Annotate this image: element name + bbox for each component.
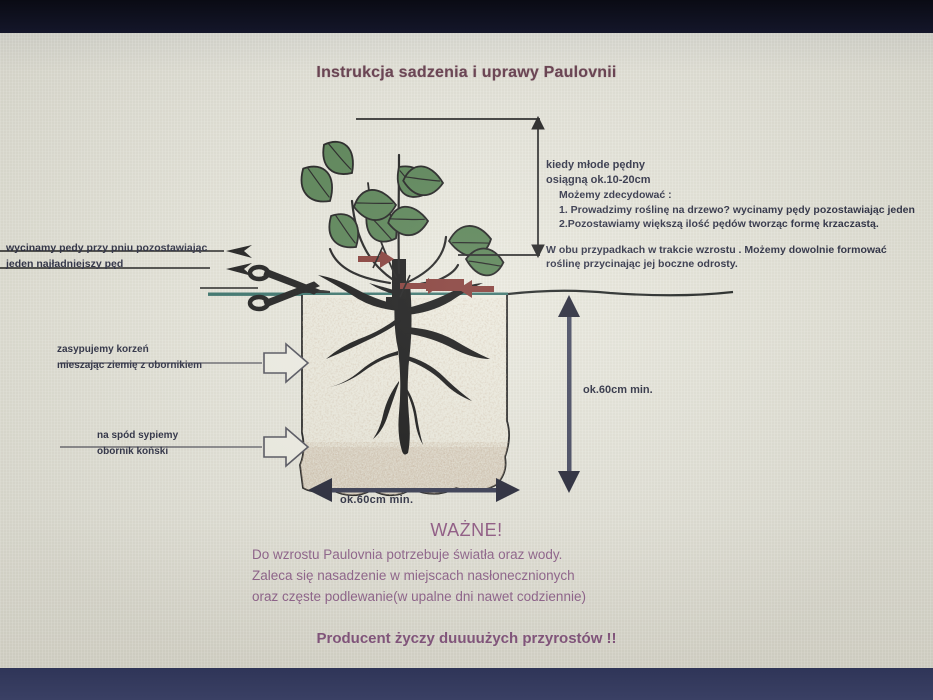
label-manure-line2: obornik koński xyxy=(97,444,237,460)
right-note-line7: roślinę przycinając jej boczne odrosty. xyxy=(546,257,928,271)
right-note-block: kiedy młode pędny osiągną ok.10-20cm Moż… xyxy=(546,158,928,272)
footer-block: WAŻNE! Do wzrostu Paulovnia potrzebuje ś… xyxy=(0,520,933,647)
right-note-line3: Możemy zdecydować : xyxy=(546,188,928,202)
screen-photo: Instrukcja sadzenia i uprawy Paulovnii k… xyxy=(0,0,933,700)
label-cut-shoots: wycinamy pedy przy pniu pozostawiając je… xyxy=(6,240,234,273)
right-note-line1: kiedy młode pędny xyxy=(546,158,928,173)
label-cut-line1: wycinamy pedy przy pniu pozostawiając xyxy=(6,240,234,256)
arrow-double-vertical-icon xyxy=(558,295,580,493)
label-cut-line2: jeden najładniejszy pęd xyxy=(6,256,234,272)
label-manure-line1: na spód sypiemy xyxy=(97,428,237,444)
page-title: Instrukcja sadzenia i uprawy Paulovnii xyxy=(0,64,933,82)
label-fill-soil: zasypujemy korzeń mieszając ziemię z obo… xyxy=(57,342,237,374)
label-fill-line2: mieszając ziemię z obornikiem xyxy=(57,358,237,374)
footer-line3: oraz częste podlewanie(w upalne dni nawe… xyxy=(252,587,933,608)
footer-line2: Zaleca się nasadzenie w miejscach nasłon… xyxy=(252,566,933,587)
dimension-depth: ok.60cm min. xyxy=(583,384,653,396)
right-note-line6: W obu przypadkach w trakcie wzrostu . Mo… xyxy=(546,243,928,257)
label-fill-line1: zasypujemy korzeń xyxy=(57,342,237,358)
right-note-line4: 1. Prowadzimy roślinę na drzewo? wycinam… xyxy=(546,203,928,217)
right-note-spacer xyxy=(546,232,928,243)
monitor-bezel-bottom xyxy=(0,668,933,700)
footer-closing: Producent życzy duuuużych przyrostów !! xyxy=(0,630,933,647)
monitor-bezel-top xyxy=(0,0,933,33)
instruction-poster: Instrukcja sadzenia i uprawy Paulovnii k… xyxy=(0,33,933,668)
right-note-line2: osiągną ok.10-20cm xyxy=(546,173,928,188)
right-note-line5: 2.Pozostawiamy większą ilość pędów tworz… xyxy=(546,217,928,231)
label-manure: na spód sypiemy obornik koński xyxy=(97,428,237,460)
footer-line1: Do wzrostu Paulovnia potrzebuje światła … xyxy=(252,545,933,566)
dimension-width: ok.60cm min. xyxy=(340,494,413,506)
footer-heading: WAŻNE! xyxy=(0,520,933,541)
